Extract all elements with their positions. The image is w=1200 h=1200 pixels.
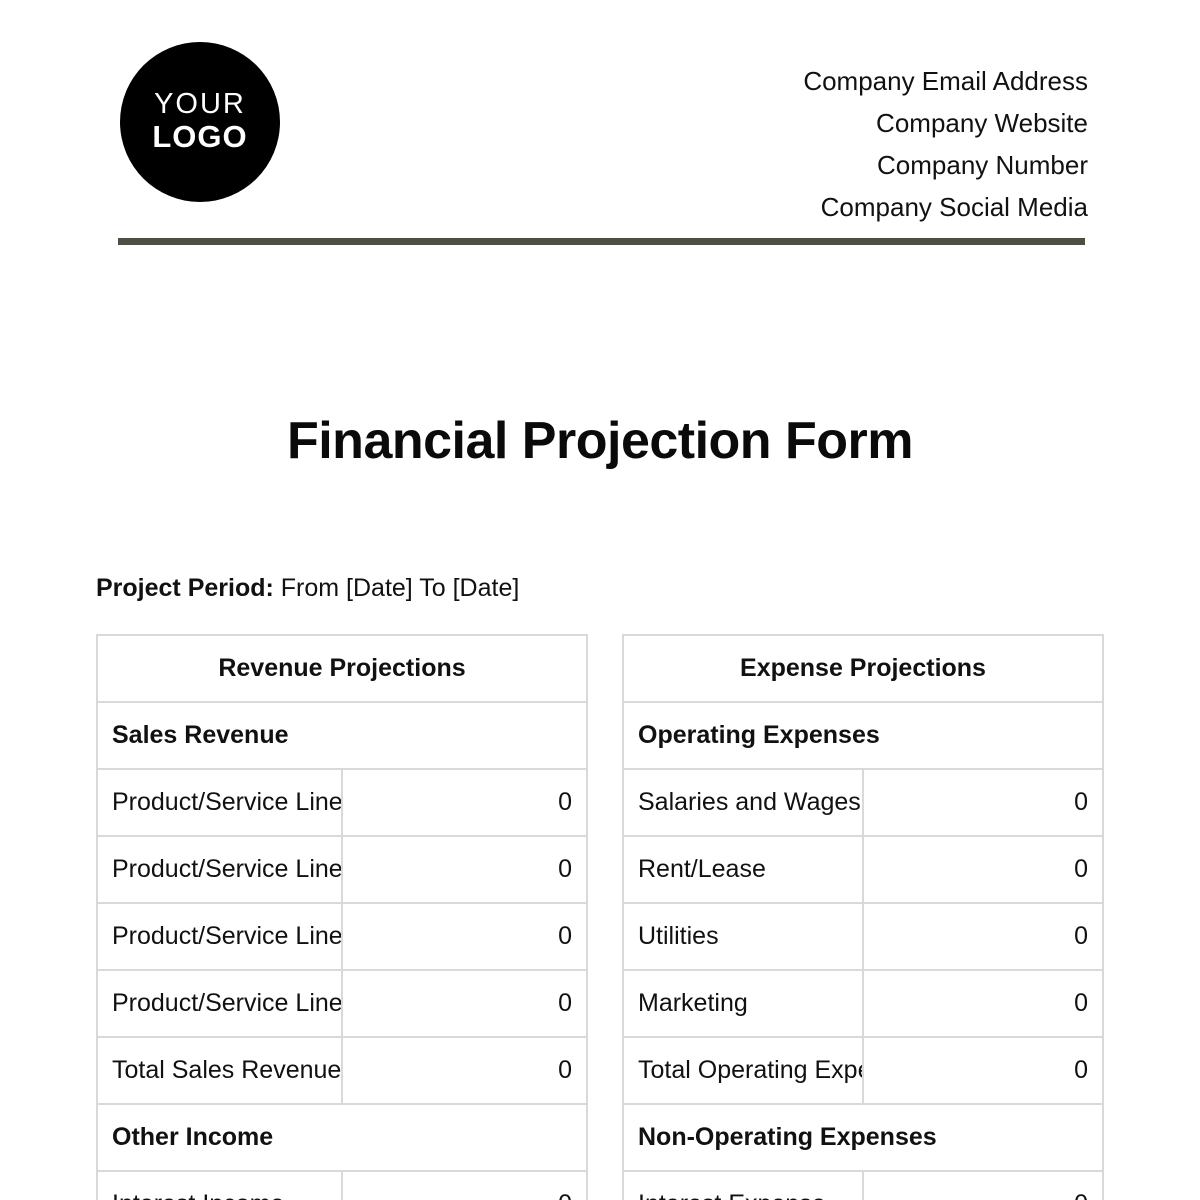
expense-item-value[interactable]: 0 [863,836,1103,903]
table-row: Product/Service Line 3 0 [97,903,587,970]
table-row: Product/Service Line 4 0 [97,970,587,1037]
revenue-section-other-income: Other Income [97,1104,587,1171]
expense-section-operating: Operating Expenses [623,702,1103,769]
logo-text-top: YOUR [154,90,246,120]
revenue-item-value[interactable]: 0 [342,903,587,970]
revenue-total-value[interactable]: 0 [342,1037,587,1104]
table-row: Total Sales Revenue 0 [97,1037,587,1104]
revenue-item-label: Product/Service Line 3 [97,903,342,970]
expense-item-value[interactable]: 0 [863,769,1103,836]
expense-item-value[interactable]: 0 [863,970,1103,1037]
revenue-total-label: Total Sales Revenue [97,1037,342,1104]
expense-item-label: Interest Expense [623,1171,863,1200]
table-row: Operating Expenses [623,702,1103,769]
revenue-projections-table: Revenue Projections Sales Revenue Produc… [96,634,588,1200]
company-contact-block: Company Email Address Company Website Co… [803,60,1088,228]
table-gap-column [588,634,622,1200]
revenue-item-value[interactable]: 0 [342,769,587,836]
expense-item-value[interactable]: 0 [863,1171,1103,1200]
expense-item-label: Utilities [623,903,863,970]
project-period-label: Project Period: [96,574,274,602]
table-row: Marketing 0 [623,970,1103,1037]
table-row: Salaries and Wages 0 [623,769,1103,836]
revenue-header-row: Revenue Projections [97,635,587,702]
revenue-item-value[interactable]: 0 [342,1171,587,1200]
revenue-header-cell: Revenue Projections [97,635,587,702]
expense-section-non-operating: Non-Operating Expenses [623,1104,1103,1171]
revenue-item-label: Product/Service Line 2 [97,836,342,903]
table-row: Non-Operating Expenses [623,1104,1103,1171]
expense-table-body: Expense Projections Operating Expenses S… [623,635,1103,1200]
revenue-item-label: Interest Income [97,1171,342,1200]
expense-header-row: Expense Projections [623,635,1103,702]
revenue-item-label: Product/Service Line 1 [97,769,342,836]
document-page: YOUR LOGO Company Email Address Company … [0,0,1200,1200]
project-period-value: From [Date] To [Date] [281,574,520,602]
table-row: Utilities 0 [623,903,1103,970]
document-header: YOUR LOGO Company Email Address Company … [96,20,1104,220]
company-logo: YOUR LOGO [120,42,280,202]
expense-item-label: Marketing [623,970,863,1037]
revenue-item-value[interactable]: 0 [342,836,587,903]
expense-total-value[interactable]: 0 [863,1037,1103,1104]
revenue-section-sales: Sales Revenue [97,702,587,769]
contact-email: Company Email Address [803,60,1088,102]
revenue-item-label: Product/Service Line 4 [97,970,342,1037]
expense-total-label: Total Operating Expenses [623,1037,863,1104]
projection-tables: Revenue Projections Sales Revenue Produc… [96,634,1104,1200]
expense-item-label: Salaries and Wages [623,769,863,836]
table-row: Interest Income 0 [97,1171,587,1200]
header-divider-rule [118,238,1085,245]
expense-projections-table: Expense Projections Operating Expenses S… [622,634,1104,1200]
contact-number: Company Number [803,144,1088,186]
table-row: Interest Expense 0 [623,1171,1103,1200]
logo-text-bottom: LOGO [152,120,247,153]
table-row: Other Income [97,1104,587,1171]
contact-website: Company Website [803,102,1088,144]
revenue-item-value[interactable]: 0 [342,970,587,1037]
table-row: Product/Service Line 1 0 [97,769,587,836]
contact-social-media: Company Social Media [803,186,1088,228]
table-row: Rent/Lease 0 [623,836,1103,903]
page-title: Financial Projection Form [0,411,1200,471]
expense-header-cell: Expense Projections [623,635,1103,702]
expense-item-label: Rent/Lease [623,836,863,903]
revenue-table-body: Revenue Projections Sales Revenue Produc… [97,635,587,1200]
expense-item-value[interactable]: 0 [863,903,1103,970]
table-row: Product/Service Line 2 0 [97,836,587,903]
table-row: Total Operating Expenses 0 [623,1037,1103,1104]
table-row: Sales Revenue [97,702,587,769]
project-period: Project Period: From [Date] To [Date] [96,571,519,605]
